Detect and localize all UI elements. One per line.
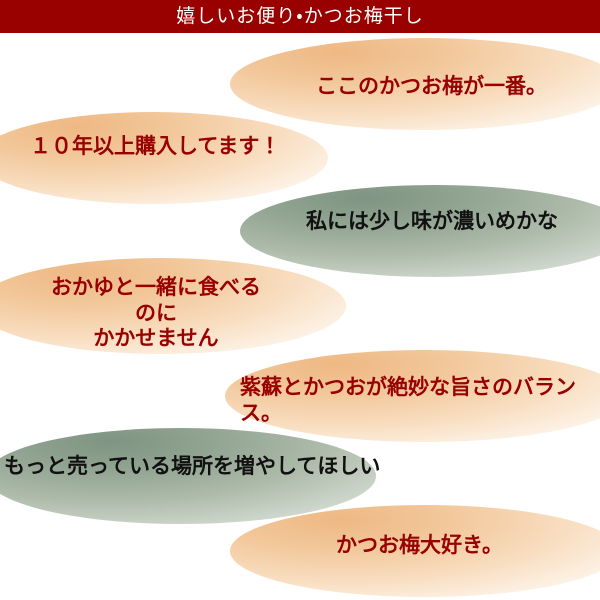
testimonial-text-1: ここのかつお梅が一番。 <box>316 74 547 100</box>
testimonial-banner: 嬉しいお便り・かつお梅干し ここのかつお梅が一番。 １０年以上購入してます！ 私… <box>0 0 600 600</box>
testimonial-text-7: かつお梅大好き。 <box>336 533 503 559</box>
testimonial-text-5: 紫蘇とかつおが絶妙な旨さのバランス。 <box>240 375 600 426</box>
testimonial-text-2: １０年以上購入してます！ <box>30 134 280 160</box>
page-title: 嬉しいお便り・かつお梅干し <box>0 0 600 33</box>
testimonial-text-6: もっと売っている場所を増やしてほしい <box>4 454 380 480</box>
testimonial-text-4: おかゆと一緒に食べるのに かかせません <box>46 275 266 352</box>
testimonial-text-3: 私には少し味が濃いめかな <box>306 209 558 235</box>
